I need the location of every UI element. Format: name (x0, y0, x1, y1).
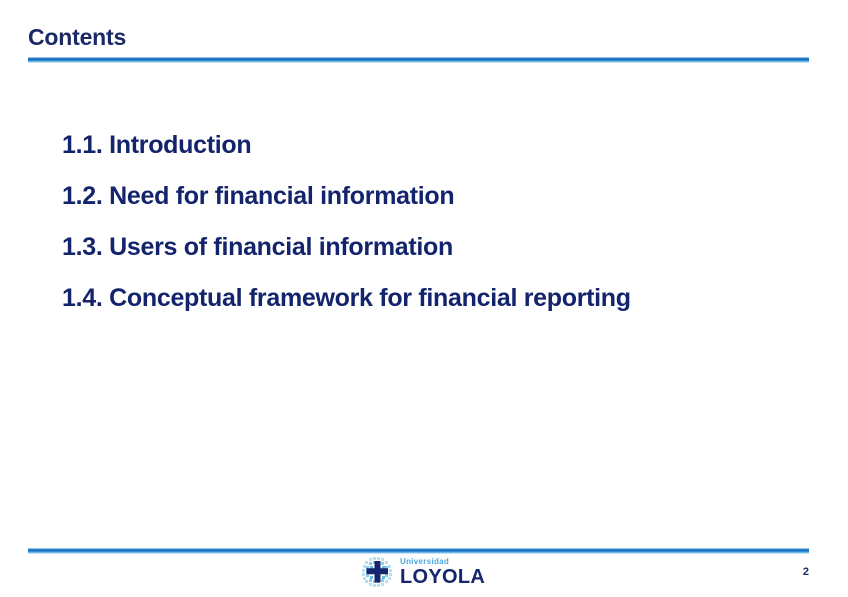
logo-wordmark: Universidad LOYOLA (400, 557, 485, 588)
contents-list: 1.1. Introduction 1.2. Need for financia… (62, 120, 792, 324)
list-item: 1.4. Conceptual framework for financial … (62, 273, 792, 324)
list-item: 1.3. Users of financial information (62, 222, 792, 273)
globe-cross-icon (360, 555, 396, 589)
footer: Universidad LOYOLA 2 (0, 552, 848, 597)
logo-loyola-text: LOYOLA (400, 567, 485, 588)
slide: Contents 1.1. Introduction 1.2. Need for… (0, 0, 848, 597)
university-logo: Universidad LOYOLA (360, 555, 485, 589)
list-item: 1.2. Need for financial information (62, 171, 792, 222)
page-number: 2 (803, 566, 809, 578)
list-item: 1.1. Introduction (62, 120, 792, 171)
logo-universidad-text: Universidad (400, 557, 485, 567)
header-divider (28, 57, 809, 63)
page-title: Contents (28, 24, 126, 51)
